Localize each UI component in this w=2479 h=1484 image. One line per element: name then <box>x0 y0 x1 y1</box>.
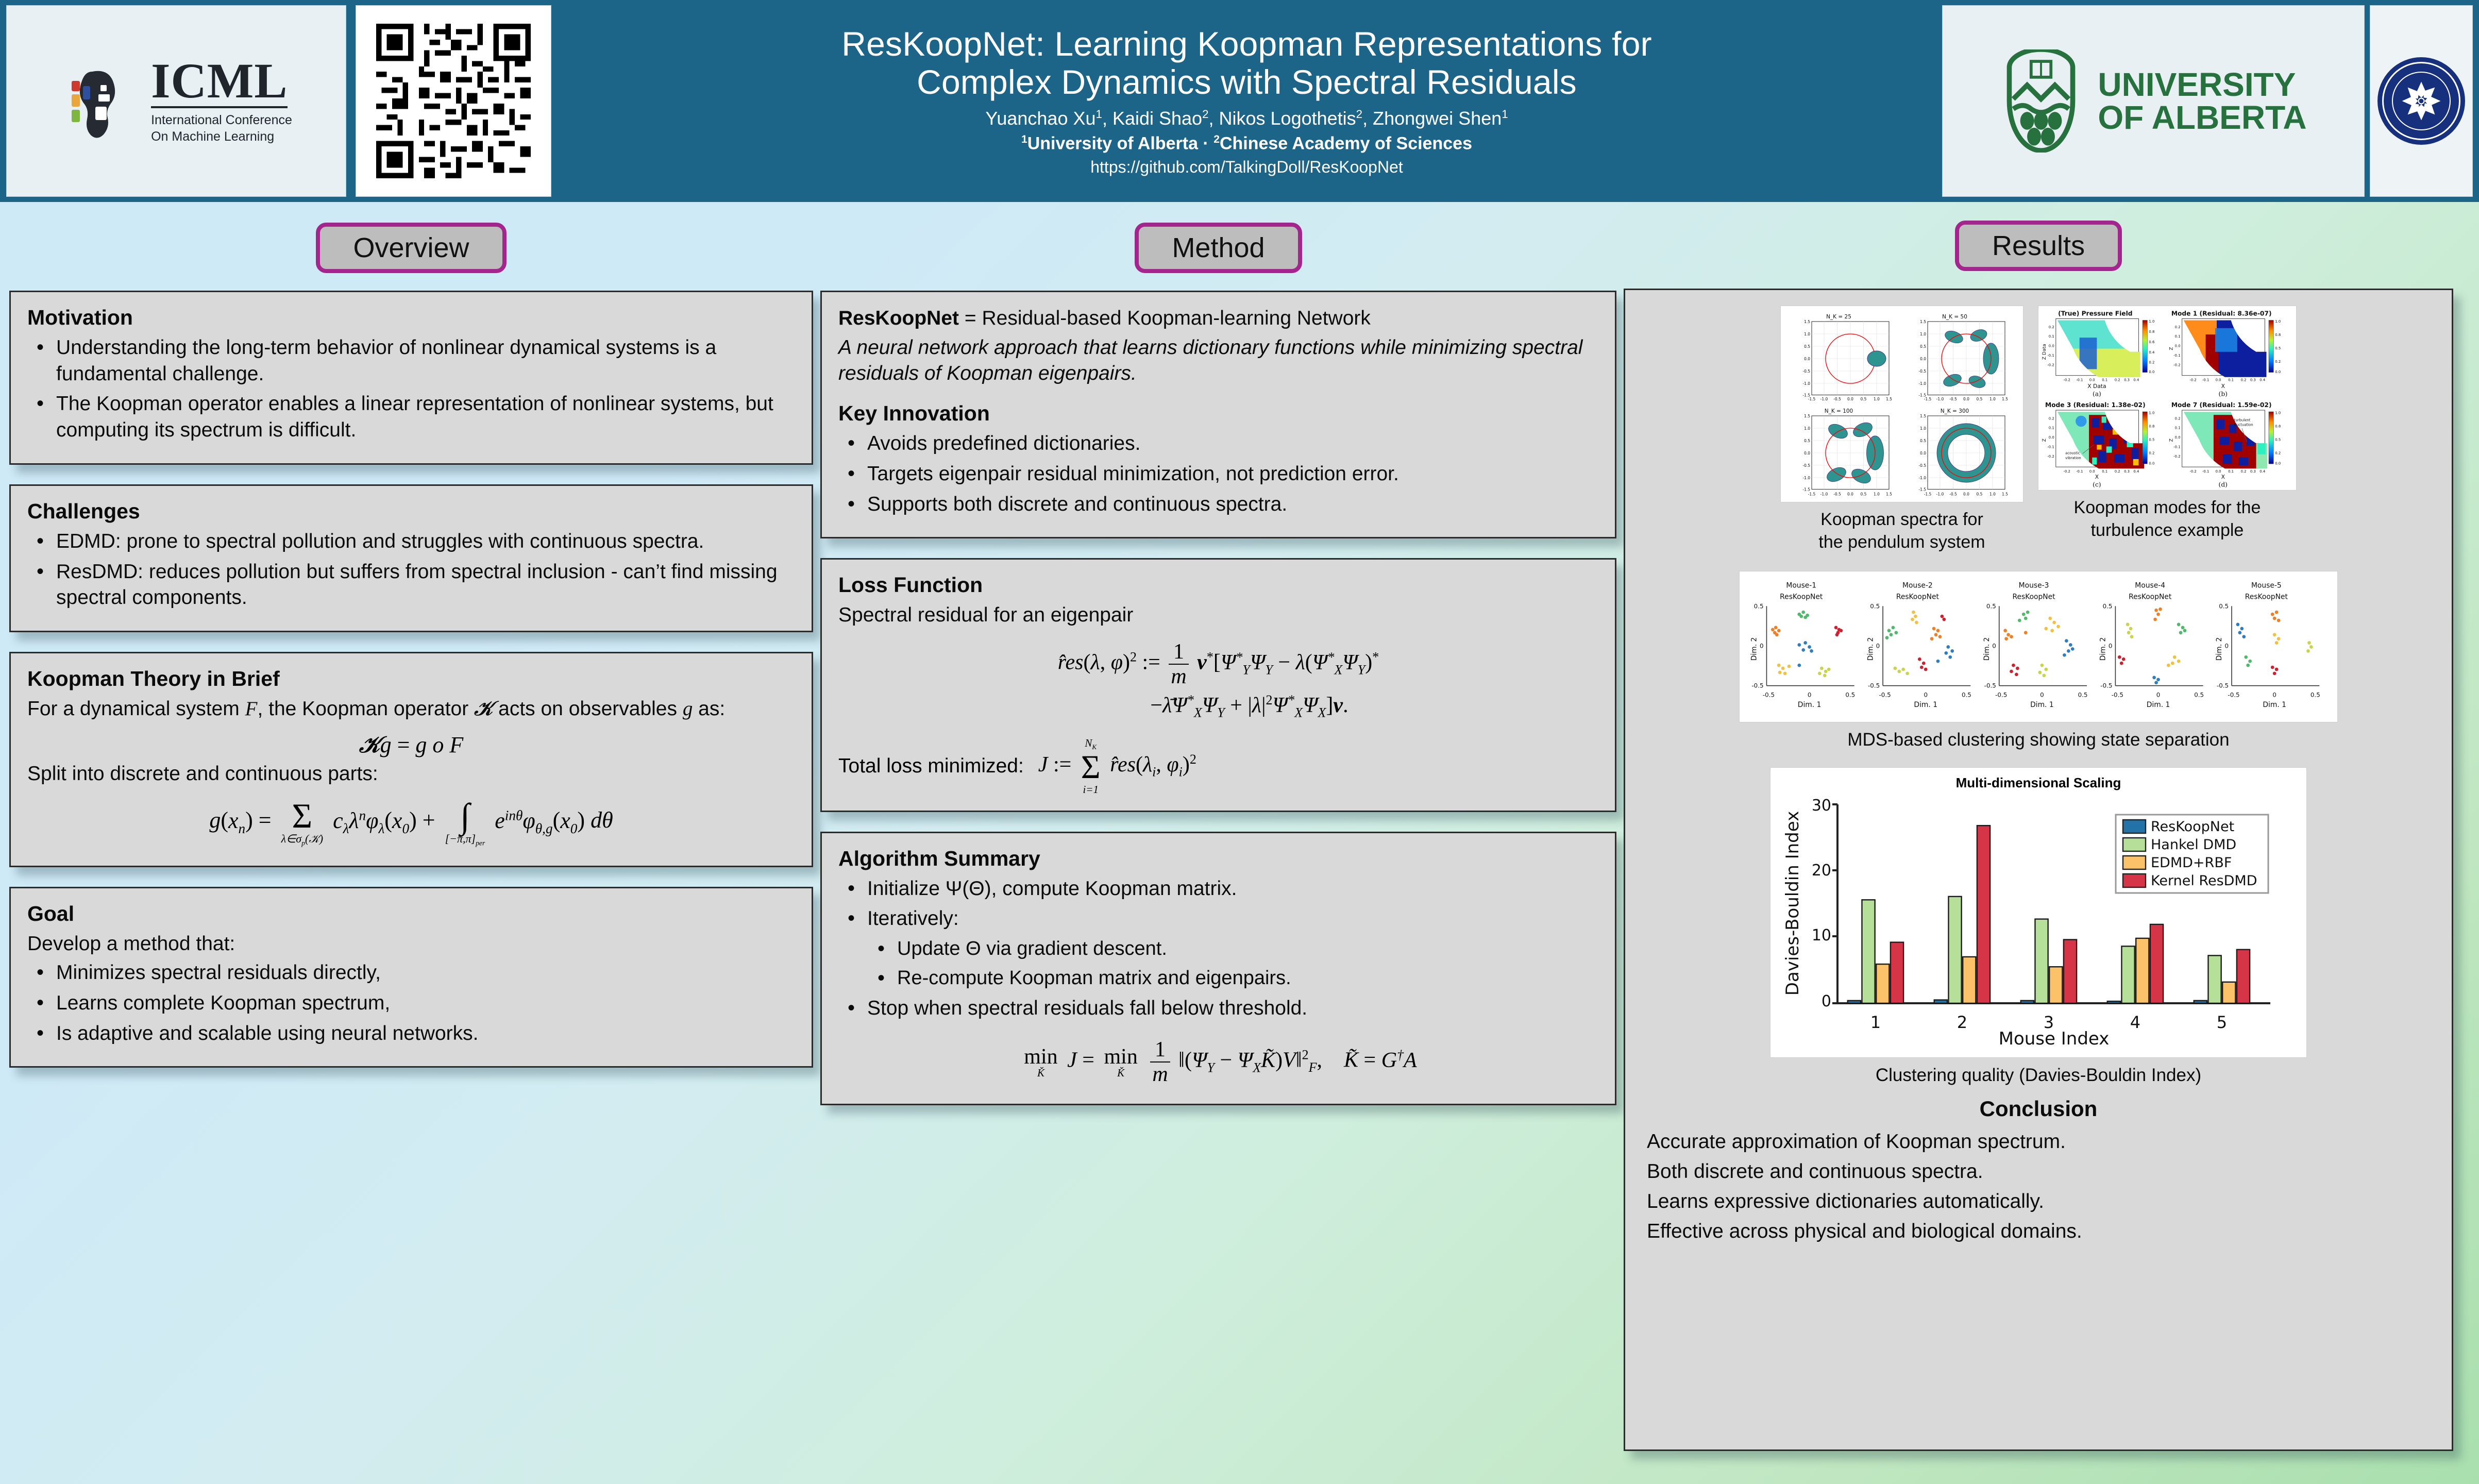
svg-text:0.0: 0.0 <box>1963 492 1969 497</box>
svg-text:-1.0: -1.0 <box>1802 381 1810 386</box>
algorithm-sub-bullet-list: Update Θ via gradient descent. Re-comput… <box>867 936 1598 991</box>
chart-title: Multi-dimensional Scaling <box>1776 775 2301 791</box>
poster-header: ICML International Conference On Machine… <box>0 0 2479 202</box>
mds-scatter-icon: Mouse-1 ResKoopNet 0.5 0 -0.5 Dim. 2 -0.… <box>1740 571 2332 719</box>
bar-reskoopnet-5 <box>2194 1001 2207 1003</box>
column-results: Results N_K = 25 <box>1624 209 2453 1471</box>
svg-text:-0.2: -0.2 <box>2064 378 2070 382</box>
svg-text:1.0: 1.0 <box>1804 426 1810 431</box>
svg-text:-0.1: -0.1 <box>2173 445 2180 449</box>
svg-text:0.5: 0.5 <box>2078 692 2088 699</box>
legend-swatch-kernel-resdmd <box>2123 874 2146 887</box>
svg-text:-0.5: -0.5 <box>1879 692 1891 699</box>
poster-url[interactable]: https://github.com/TalkingDoll/ResKoopNe… <box>1090 158 1403 177</box>
svg-text:0.4: 0.4 <box>2149 350 2154 355</box>
svg-text:1.0: 1.0 <box>1989 397 1996 401</box>
svg-text:0.5: 0.5 <box>1804 439 1810 443</box>
goal-heading: Goal <box>27 902 795 926</box>
svg-text:0.4: 0.4 <box>2133 469 2139 474</box>
svg-text:1.0: 1.0 <box>2275 411 2281 415</box>
turbulence-figure-image: (True) Pressure Field <box>2038 306 2297 491</box>
svg-text:0.5: 0.5 <box>1986 602 1996 610</box>
turbulence-figure-caption: Koopman modes for the turbulence example <box>2074 497 2261 542</box>
bar-hankel-dmd-1 <box>1862 900 1875 1003</box>
svg-text:N_K = 100: N_K = 100 <box>1825 408 1853 414</box>
svg-text:-0.2: -0.2 <box>2047 454 2054 459</box>
x-tick-4: 4 <box>2130 1013 2140 1032</box>
svg-text:1.0: 1.0 <box>2149 411 2154 415</box>
svg-text:-1.5: -1.5 <box>1808 492 1816 497</box>
svg-text:0.6: 0.6 <box>2149 340 2154 344</box>
bar-reskoopnet-3 <box>2021 1001 2034 1003</box>
svg-text:-0.5: -0.5 <box>1995 692 2007 699</box>
key-innovation-bullet-list: Avoids predefined dictionaries. Targets … <box>838 431 1598 517</box>
svg-text:0.2: 0.2 <box>2149 361 2154 365</box>
x-tick-3: 3 <box>2044 1013 2054 1032</box>
theory-equation-split: g(xn) = Σλ∈σp(𝒦) cλλnφλ(x0) + ∫[−π,π]per… <box>27 798 795 847</box>
bar-chart-svg: 30 20 10 0 Davies-Bouldin Index Mouse In… <box>1776 792 2291 1050</box>
icml-logo-text: ICML <box>151 57 288 108</box>
loss-total-row: Total loss minimized: J := NKΣi=1 r̂es(λ… <box>838 738 1598 795</box>
svg-text:0.1: 0.1 <box>2228 469 2234 474</box>
pendulum-caption-line2: the pendulum system <box>1818 531 1985 554</box>
svg-text:-1.5: -1.5 <box>1918 487 1926 492</box>
svg-text:Mode 3 (Residual: 1.38e-02): Mode 3 (Residual: 1.38e-02) <box>2045 401 2146 409</box>
svg-text:1.5: 1.5 <box>1804 319 1810 324</box>
svg-text:0.2: 0.2 <box>2241 469 2247 474</box>
bar-edmd-rbf-4 <box>2136 938 2149 1003</box>
svg-text:-0.5: -0.5 <box>2217 682 2229 689</box>
svg-text:fluctuation: fluctuation <box>2234 423 2253 427</box>
svg-text:0.5: 0.5 <box>1977 397 1983 401</box>
svg-text:N_K = 50: N_K = 50 <box>1942 314 1967 320</box>
svg-text:Dim. 2: Dim. 2 <box>2099 637 2107 661</box>
svg-text:-0.1: -0.1 <box>2047 353 2054 358</box>
theory-equation-main: 𝒦g = g o F <box>27 732 795 758</box>
svg-text:1.0: 1.0 <box>2275 319 2281 324</box>
y-tick-0: 0 <box>1822 992 1831 1010</box>
svg-text:-0.2: -0.2 <box>2064 469 2070 474</box>
card-results: N_K = 25 <box>1624 289 2453 1451</box>
poster-body: Overview Motivation Understanding the lo… <box>0 202 2479 1484</box>
svg-text:Mouse-5: Mouse-5 <box>2251 582 2282 590</box>
card-goal: Goal Develop a method that: Minimizes sp… <box>9 887 813 1068</box>
svg-text:0.3: 0.3 <box>2124 378 2130 382</box>
svg-text:Z: Z <box>2168 347 2174 350</box>
svg-text:(c): (c) <box>2093 481 2101 488</box>
theory-split-text: Split into discrete and continuous parts… <box>27 761 795 787</box>
svg-text:-0.5: -0.5 <box>1918 463 1926 468</box>
method-expansion: = Residual-based Koopman-learning Networ… <box>959 307 1371 329</box>
university-of-alberta-logo: UNIVERSITY OF ALBERTA <box>1942 5 2365 197</box>
poster-authors: Yuanchao Xu1, Kaidi Shao2, Nikos Logothe… <box>985 108 1508 129</box>
svg-text:0.5: 0.5 <box>1845 692 1855 699</box>
svg-text:1.5: 1.5 <box>1920 319 1926 324</box>
svg-text:0.2: 0.2 <box>2049 325 2054 329</box>
pendulum-figure-caption: Koopman spectra for the pendulum system <box>1818 509 1985 553</box>
figure-turbulence-modes: (True) Pressure Field <box>2038 306 2297 542</box>
algorithm-bullet-list: Initialize Ψ(Θ), compute Koopman matrix.… <box>838 876 1598 1022</box>
svg-text:ResKoopNet: ResKoopNet <box>1780 593 1823 601</box>
svg-text:0: 0 <box>2109 643 2113 650</box>
list-item: Minimizes spectral residuals directly, <box>30 960 795 986</box>
svg-text:-0.5: -0.5 <box>1751 682 1763 689</box>
goal-bullet-list: Minimizes spectral residuals directly, L… <box>27 960 795 1047</box>
bar-reskoopnet-2 <box>1934 1000 1947 1003</box>
goal-intro: Develop a method that: <box>27 931 795 957</box>
svg-text:0: 0 <box>1808 692 1812 699</box>
list-item: Understanding the long-term behavior of … <box>30 335 795 387</box>
svg-text:-0.1: -0.1 <box>2076 469 2083 474</box>
svg-text:-0.5: -0.5 <box>2228 692 2239 699</box>
bar-hankel-dmd-5 <box>2208 955 2221 1003</box>
svg-text:-0.1: -0.1 <box>2173 353 2180 358</box>
conclusion-line: Both discrete and continuous spectra. <box>1640 1158 2437 1185</box>
svg-text:Dim. 1: Dim. 1 <box>1914 701 1937 709</box>
svg-text:-0.2: -0.2 <box>2189 378 2196 382</box>
qr-code-icon[interactable] <box>376 24 531 178</box>
svg-text:N_K = 300: N_K = 300 <box>1941 408 1969 414</box>
svg-text:0.0: 0.0 <box>1920 357 1926 361</box>
svg-text:0.3: 0.3 <box>2124 469 2130 474</box>
svg-text:0.2: 0.2 <box>2175 325 2181 329</box>
icml-logo-subtitle: International Conference On Machine Lear… <box>151 112 292 145</box>
svg-text:Mouse-4: Mouse-4 <box>2135 582 2165 590</box>
legend-swatch-reskoopnet <box>2123 820 2146 833</box>
bar-edmd-rbf-3 <box>2049 967 2062 1003</box>
svg-text:0.5: 0.5 <box>2275 346 2281 350</box>
svg-text:1.0: 1.0 <box>1920 426 1926 431</box>
svg-text:0.1: 0.1 <box>2102 378 2107 382</box>
icml-subtitle-line2: On Machine Learning <box>151 129 292 145</box>
bar-hankel-dmd-2 <box>1948 897 1961 1003</box>
svg-text:Mouse-1: Mouse-1 <box>1786 582 1816 590</box>
svg-text:-0.5: -0.5 <box>1802 369 1810 374</box>
svg-text:0.0: 0.0 <box>2216 378 2221 382</box>
poster-title-line1: ResKoopNet: Learning Koopman Representat… <box>841 25 1652 63</box>
svg-text:-0.5: -0.5 <box>1833 492 1841 497</box>
theory-heading: Koopman Theory in Brief <box>27 667 795 691</box>
svg-text:0.5: 0.5 <box>1962 692 1971 699</box>
pendulum-caption-line1: Koopman spectra for <box>1818 509 1985 531</box>
svg-text:vibration: vibration <box>2065 456 2081 460</box>
figure-mds-clustering: Mouse-1 ResKoopNet 0.5 0 -0.5 Dim. 2 -0.… <box>1640 571 2437 752</box>
svg-text:0.8: 0.8 <box>2149 425 2154 429</box>
svg-text:0.1: 0.1 <box>2049 334 2054 339</box>
svg-text:Z: Z <box>2168 439 2174 442</box>
svg-text:0.2: 0.2 <box>2115 469 2120 474</box>
svg-text:1.0: 1.0 <box>2149 319 2154 324</box>
pendulum-spectra-icon: N_K = 25 <box>1781 306 2013 499</box>
svg-text:0.4: 0.4 <box>2259 378 2265 382</box>
svg-text:0.0: 0.0 <box>2175 435 2181 440</box>
y-tick-30: 30 <box>1812 797 1831 815</box>
svg-text:0.5: 0.5 <box>1920 344 1926 349</box>
svg-text:Dim. 2: Dim. 2 <box>2215 637 2223 661</box>
motivation-bullet-list: Understanding the long-term behavior of … <box>27 335 795 444</box>
legend-label-reskoopnet: ResKoopNet <box>2151 819 2234 835</box>
svg-text:Mouse-3: Mouse-3 <box>2019 582 2049 590</box>
svg-text:1.0: 1.0 <box>1989 492 1996 497</box>
bar-kernel-resdmd-1 <box>1891 942 1903 1003</box>
card-challenges: Challenges EDMD: prone to spectral pollu… <box>9 484 813 632</box>
card-koopman-theory: Koopman Theory in Brief For a dynamical … <box>9 652 813 867</box>
chinese-academy-of-sciences-logo <box>2370 5 2473 197</box>
svg-text:0.2: 0.2 <box>2175 416 2181 420</box>
svg-text:Dim. 1: Dim. 1 <box>2030 701 2054 709</box>
svg-text:ResKoopNet: ResKoopNet <box>2012 593 2055 601</box>
svg-text:0.0: 0.0 <box>2089 378 2095 382</box>
legend-swatch-edmd-rbf <box>2123 856 2146 869</box>
svg-text:Mode 1 (Residual: 8.36e-07): Mode 1 (Residual: 8.36e-07) <box>2171 310 2272 317</box>
poster-title-line2: Complex Dynamics with Spectral Residuals <box>917 63 1577 102</box>
theory-intro: For a dynamical system F, the Koopman op… <box>27 696 795 722</box>
svg-text:0.1: 0.1 <box>2175 426 2181 430</box>
svg-text:0.2: 0.2 <box>2241 378 2247 382</box>
method-description: A neural network approach that learns di… <box>838 335 1598 387</box>
turbulence-caption-line2: turbulence example <box>2074 519 2261 542</box>
loss-heading: Loss Function <box>838 573 1598 597</box>
svg-text:-1.0: -1.0 <box>1918 476 1926 480</box>
alberta-shield-icon <box>2000 49 2082 153</box>
conclusion-line: Learns expressive dictionaries automatic… <box>1640 1188 2437 1215</box>
svg-text:0.5: 0.5 <box>1804 344 1810 349</box>
svg-text:Mouse-2: Mouse-2 <box>1902 582 1933 590</box>
svg-text:-1.5: -1.5 <box>1924 397 1932 401</box>
qr-code[interactable] <box>356 5 551 197</box>
loss-subtitle: Spectral residual for an eigenpair <box>838 602 1598 629</box>
algorithm-heading: Algorithm Summary <box>838 847 1598 871</box>
svg-text:0.0: 0.0 <box>2049 344 2054 348</box>
method-definition-line: ResKoopNet = Residual-based Koopman-lear… <box>838 306 1598 332</box>
mds-figure-caption: MDS-based clustering showing state separ… <box>1847 729 2229 752</box>
list-item: Iteratively: Update Θ via gradient desce… <box>841 906 1598 991</box>
svg-text:0.1: 0.1 <box>2228 378 2234 382</box>
list-item: EDMD: prone to spectral pollution and st… <box>30 529 795 555</box>
y-tick-20: 20 <box>1812 862 1831 880</box>
svg-text:Mode 7 (Residual: 1.59e-02): Mode 7 (Residual: 1.59e-02) <box>2171 401 2272 409</box>
svg-text:0.0: 0.0 <box>2275 462 2281 466</box>
svg-text:-1.5: -1.5 <box>1802 487 1810 492</box>
svg-text:(d): (d) <box>2219 481 2228 488</box>
y-tick-10: 10 <box>1812 926 1831 945</box>
conclusion-line: Effective across physical and biological… <box>1640 1218 2437 1245</box>
svg-text:0.0: 0.0 <box>1804 357 1810 361</box>
turbulence-modes-icon: (True) Pressure Field <box>2038 306 2291 487</box>
poster-title-block: ResKoopNet: Learning Koopman Representat… <box>558 5 1936 197</box>
svg-text:-1.0: -1.0 <box>1936 492 1944 497</box>
svg-text:0.5: 0.5 <box>1861 397 1867 401</box>
svg-text:0.0: 0.0 <box>2089 469 2095 474</box>
svg-text:Dim. 2: Dim. 2 <box>1866 637 1875 661</box>
svg-text:(True) Pressure Field: (True) Pressure Field <box>2058 310 2132 317</box>
svg-text:0.0: 0.0 <box>1963 397 1969 401</box>
y-axis-label: Davies-Bouldin Index <box>1782 811 1803 996</box>
svg-text:1.5: 1.5 <box>2002 397 2008 401</box>
column-overview: Overview Motivation Understanding the lo… <box>9 209 813 1471</box>
svg-text:-1.0: -1.0 <box>1820 397 1828 401</box>
bar-chart-caption: Clustering quality (Davies-Bouldin Index… <box>1876 1064 2201 1087</box>
x-tick-1: 1 <box>1870 1013 1881 1032</box>
pendulum-figure-image: N_K = 25 <box>1780 306 2023 502</box>
card-method-definition: ResKoopNet = Residual-based Koopman-lear… <box>820 291 1616 538</box>
svg-text:-0.2: -0.2 <box>2173 363 2180 367</box>
svg-text:0.1: 0.1 <box>2175 334 2181 339</box>
svg-text:-0.5: -0.5 <box>1833 397 1841 401</box>
svg-text:1.5: 1.5 <box>1886 397 1892 401</box>
list-item: The Koopman operator enables a linear re… <box>30 391 795 443</box>
svg-text:1.0: 1.0 <box>1920 332 1926 336</box>
svg-text:-0.5: -0.5 <box>2100 682 2112 689</box>
section-badge-method: Method <box>1135 223 1302 273</box>
svg-text:0.5: 0.5 <box>2219 602 2229 610</box>
svg-text:0.5: 0.5 <box>1870 602 1880 610</box>
svg-text:0.1: 0.1 <box>2049 426 2054 430</box>
turbulence-caption-line1: Koopman modes for the <box>2074 497 2261 519</box>
svg-text:1.5: 1.5 <box>1804 414 1810 418</box>
svg-text:0: 0 <box>2272 692 2276 699</box>
conclusion-line: Accurate approximation of Koopman spectr… <box>1640 1128 2437 1155</box>
svg-text:1.0: 1.0 <box>1804 332 1810 336</box>
svg-text:-1.5: -1.5 <box>1924 492 1932 497</box>
svg-text:0.5: 0.5 <box>2311 692 2320 699</box>
x-tick-5: 5 <box>2217 1013 2227 1032</box>
svg-text:X: X <box>2221 383 2225 390</box>
section-badge-overview: Overview <box>316 223 506 273</box>
legend-label-kernel-resdmd: Kernel ResDMD <box>2151 873 2257 889</box>
svg-text:acoustic: acoustic <box>2065 451 2080 456</box>
bar-chart-container: Multi-dimensional Scaling 30 20 10 <box>1770 767 2307 1058</box>
svg-text:Dim. 2: Dim. 2 <box>1750 637 1759 661</box>
svg-text:X: X <box>2221 474 2225 480</box>
chart-legend: ResKoopNetHankel DMDEDMD+RBFKernel ResDM… <box>2116 815 2268 893</box>
key-innovation-heading: Key Innovation <box>838 401 1598 426</box>
svg-text:1.5: 1.5 <box>1920 414 1926 418</box>
bar-reskoopnet-4 <box>2107 1001 2120 1003</box>
loss-equation-line2: −λ̄Ψ*XΨY + |λ|2Ψ*XΨX]v. <box>838 693 1598 720</box>
svg-text:-0.1: -0.1 <box>2202 469 2209 474</box>
svg-text:0.8: 0.8 <box>2275 333 2281 337</box>
svg-text:-0.2: -0.2 <box>2189 469 2196 474</box>
svg-text:X: X <box>2095 474 2099 480</box>
svg-text:-0.1: -0.1 <box>2047 445 2054 449</box>
algorithm-equation: minǨ J = minǨ 1m ‖(ΨY − ΨXK̃)V‖2F, K̃ … <box>838 1039 1598 1085</box>
svg-text:Dim. 2: Dim. 2 <box>1983 637 1991 661</box>
svg-text:ResKoopNet: ResKoopNet <box>1896 593 1940 601</box>
svg-text:Dim. 1: Dim. 1 <box>1798 701 1822 709</box>
svg-text:-0.5: -0.5 <box>1949 492 1957 497</box>
svg-text:0.8: 0.8 <box>2149 330 2154 334</box>
svg-text:0.3: 0.3 <box>2250 378 2256 382</box>
svg-text:1.5: 1.5 <box>1886 492 1892 497</box>
bar-reskoopnet-1 <box>1848 1001 1861 1003</box>
svg-text:0.0: 0.0 <box>1847 492 1853 497</box>
icml-subtitle-line1: International Conference <box>151 112 292 128</box>
svg-text:0.2: 0.2 <box>2275 360 2281 364</box>
bar-hankel-dmd-3 <box>2035 919 2048 1003</box>
list-item: Initialize Ψ(Θ), compute Koopman matrix. <box>841 876 1598 902</box>
svg-text:0.3: 0.3 <box>2250 469 2256 474</box>
svg-text:0.5: 0.5 <box>1977 492 1983 497</box>
svg-text:Z Data: Z Data <box>2042 344 2047 360</box>
svg-text:-1.5: -1.5 <box>1808 397 1816 401</box>
svg-text:Z: Z <box>2042 439 2047 442</box>
figure-davies-bouldin-chart: Multi-dimensional Scaling 30 20 10 <box>1640 767 2437 1087</box>
results-figure-row-top: N_K = 25 <box>1640 306 2437 553</box>
svg-text:-0.1: -0.1 <box>2076 378 2083 382</box>
conclusion-heading: Conclusion <box>1640 1097 2437 1121</box>
svg-text:ResKoopNet: ResKoopNet <box>2245 593 2288 601</box>
svg-text:(a): (a) <box>2093 391 2101 398</box>
svg-text:0.5: 0.5 <box>2103 602 2113 610</box>
svg-text:0.2: 0.2 <box>2275 451 2281 456</box>
svg-text:0.5: 0.5 <box>2275 438 2281 442</box>
svg-text:-0.5: -0.5 <box>1763 692 1775 699</box>
list-item: Stop when spectral residuals fall below … <box>841 996 1598 1022</box>
svg-text:-0.1: -0.1 <box>2202 378 2209 382</box>
list-item: Supports both discrete and continuous sp… <box>841 492 1598 518</box>
loss-total-label: Total loss minimized: <box>838 755 1024 778</box>
svg-text:-0.5: -0.5 <box>1918 369 1926 374</box>
svg-text:0: 0 <box>1992 643 1996 650</box>
svg-text:0.0: 0.0 <box>2275 370 2281 374</box>
svg-text:-0.5: -0.5 <box>1868 682 1880 689</box>
svg-text:0.2: 0.2 <box>2115 378 2120 382</box>
svg-text:0.0: 0.0 <box>2049 435 2054 440</box>
svg-text:0.2: 0.2 <box>2149 451 2154 456</box>
bar-edmd-rbf-5 <box>2222 982 2235 1003</box>
loss-equation-line1: r̂es(λ, φ)2 := 1m v*[Ψ*YΨY − λ(Ψ*XΨY)* <box>838 641 1598 687</box>
svg-text:0.0: 0.0 <box>2175 344 2181 348</box>
svg-text:N_K = 25: N_K = 25 <box>1826 314 1851 320</box>
svg-text:X Data: X Data <box>2087 383 2106 390</box>
ua-logo-text: UNIVERSITY OF ALBERTA <box>2098 68 2306 134</box>
cas-emblem-icon <box>2377 57 2465 145</box>
legend-label-edmd-rbf: EDMD+RBF <box>2151 855 2232 871</box>
method-name: ResKoopNet <box>838 307 959 329</box>
column-method: Method ResKoopNet = Residual-based Koopm… <box>820 209 1616 1471</box>
legend-label-hankel-dmd: Hankel DMD <box>2151 837 2236 853</box>
svg-text:0.0: 0.0 <box>1804 451 1810 456</box>
svg-text:-1.0: -1.0 <box>1802 476 1810 480</box>
svg-text:0: 0 <box>1924 692 1928 699</box>
svg-text:0.0: 0.0 <box>1920 451 1926 456</box>
x-tick-2: 2 <box>1957 1013 1967 1032</box>
challenges-bullet-list: EDMD: prone to spectral pollution and st… <box>27 529 795 611</box>
svg-text:-0.2: -0.2 <box>2173 454 2180 459</box>
list-item-label: Iteratively: <box>867 907 959 930</box>
svg-text:Dim. 1: Dim. 1 <box>2147 701 2170 709</box>
svg-text:0.0: 0.0 <box>2149 462 2154 466</box>
list-item: Targets eigenpair residual minimization,… <box>841 461 1598 487</box>
svg-text:1.0: 1.0 <box>1874 397 1880 401</box>
svg-text:1.5: 1.5 <box>2002 492 2008 497</box>
bar-kernel-resdmd-2 <box>1977 825 1990 1003</box>
svg-text:0.4: 0.4 <box>2259 469 2265 474</box>
conclusion-block: Conclusion Accurate approximation of Koo… <box>1640 1097 2437 1245</box>
svg-text:0.4: 0.4 <box>2133 378 2139 382</box>
svg-text:0: 0 <box>2040 692 2044 699</box>
bar-hankel-dmd-4 <box>2121 946 2134 1003</box>
bar-edmd-rbf-2 <box>1963 957 1976 1003</box>
svg-text:turbulent: turbulent <box>2234 418 2251 423</box>
card-algorithm-summary: Algorithm Summary Initialize Ψ(Θ), compu… <box>820 832 1616 1106</box>
svg-text:0.1: 0.1 <box>2102 469 2107 474</box>
svg-text:-0.2: -0.2 <box>2047 363 2054 367</box>
card-loss-function: Loss Function Spectral residual for an e… <box>820 558 1616 812</box>
svg-text:0.2: 0.2 <box>2049 416 2054 420</box>
svg-text:-1.0: -1.0 <box>1918 381 1926 386</box>
